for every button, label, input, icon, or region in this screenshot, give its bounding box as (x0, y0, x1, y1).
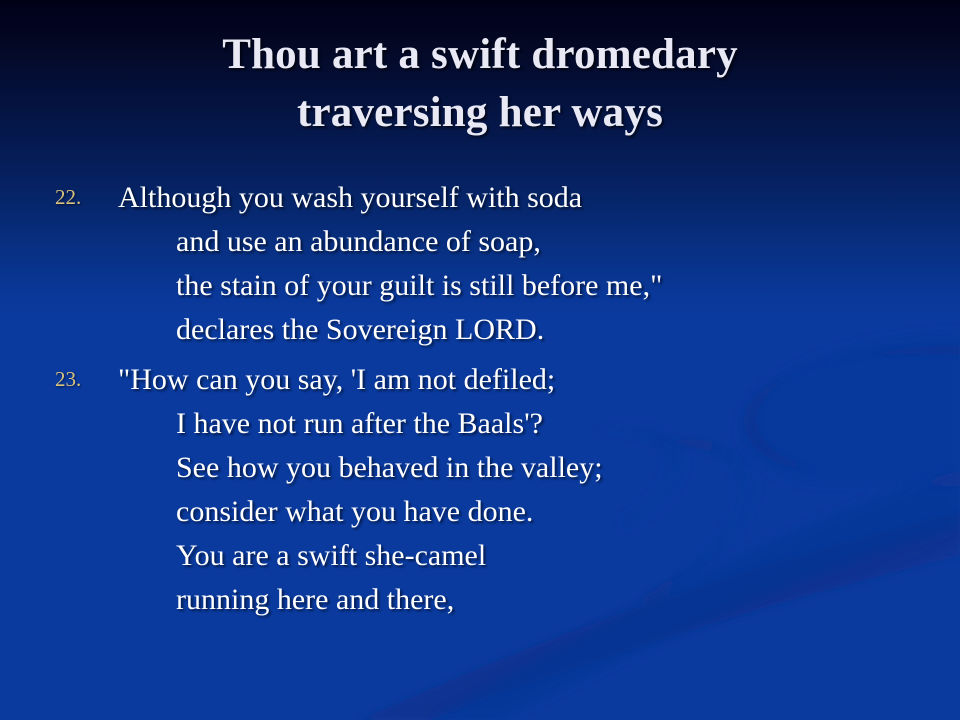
verse-block: 22. Although you wash yourself with soda… (0, 176, 960, 352)
verse-line: You are a swift she-camel (118, 534, 960, 578)
verse-line: consider what you have done. (118, 490, 960, 534)
verse-line: "How can you say, 'I am not defiled; (118, 358, 960, 402)
verse-text: "How can you say, 'I am not defiled; I h… (118, 358, 960, 622)
verse-line: declares the Sovereign LORD. (118, 308, 960, 352)
verse-text: Although you wash yourself with soda and… (118, 176, 960, 352)
slide: Thou art a swift dromedary traversing he… (0, 0, 960, 720)
verse-block: 23. "How can you say, 'I am not defiled;… (0, 358, 960, 622)
slide-title: Thou art a swift dromedary traversing he… (60, 26, 900, 142)
verse-line: I have not run after the Baals'? (118, 402, 960, 446)
slide-title-line-2: traversing her ways (60, 84, 900, 142)
verse-number-marker: 23. (55, 367, 111, 392)
verse-line: and use an abundance of soap, (118, 220, 960, 264)
verse-number-marker: 22. (55, 185, 111, 210)
verse-line: Although you wash yourself with soda (118, 176, 960, 220)
verse-line: running here and there, (118, 578, 960, 622)
verse-line: See how you behaved in the valley; (118, 446, 960, 490)
verse-line: the stain of your guilt is still before … (118, 264, 960, 308)
slide-title-line-1: Thou art a swift dromedary (60, 26, 900, 84)
slide-body: 22. Although you wash yourself with soda… (0, 176, 960, 628)
